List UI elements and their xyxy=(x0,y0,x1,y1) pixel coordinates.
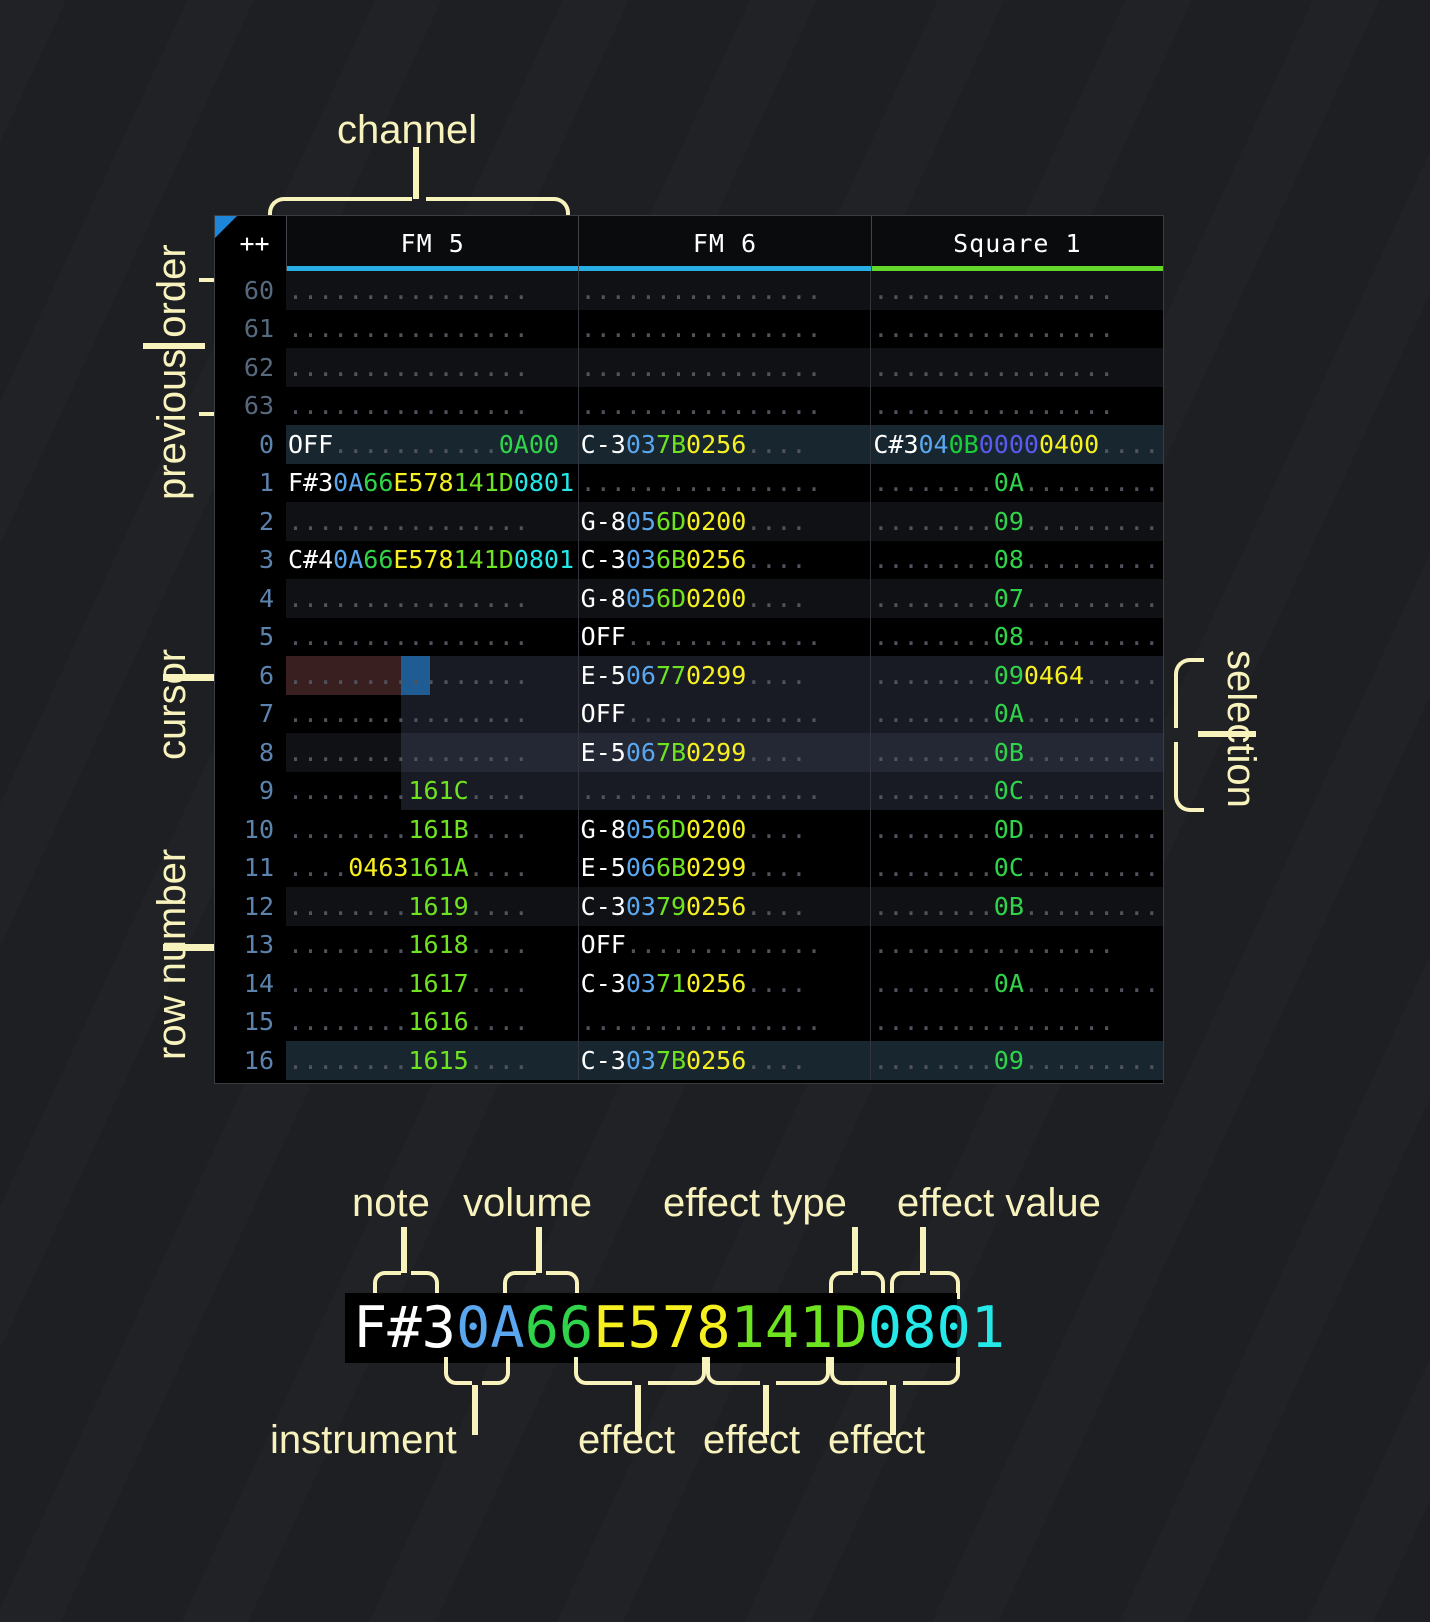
pattern-row[interactable]: 5................OFF....................… xyxy=(215,618,1163,657)
pattern-token: 78 xyxy=(423,545,453,574)
pattern-cell[interactable]: ........09.......... xyxy=(871,1041,1163,1080)
pattern-token: .......... xyxy=(1024,969,1163,998)
pattern-token: ................ xyxy=(581,776,822,805)
pattern-cell-text: ................ xyxy=(286,391,529,420)
pattern-token: .......... xyxy=(1024,507,1163,536)
pattern-cell[interactable]: ........07.......... xyxy=(871,579,1163,618)
pattern-token: 0256 xyxy=(686,969,746,998)
pattern-token: 0463 xyxy=(348,853,408,882)
pattern-token: 0D xyxy=(994,815,1024,844)
pattern-cell[interactable]: OFF............. xyxy=(579,926,872,965)
pattern-token: E-5 xyxy=(581,738,626,767)
pattern-token: ................ xyxy=(581,276,822,305)
pattern-header: ++ FM 5 FM 6 Square 1 xyxy=(215,216,1163,271)
pattern-cell[interactable]: E-5066B0299.... xyxy=(579,849,872,888)
pattern-token: .... xyxy=(469,892,529,921)
pattern-cell[interactable]: ................ xyxy=(579,464,872,503)
detail-token: 01 xyxy=(936,1295,1005,1361)
pattern-token: ........... xyxy=(333,430,499,459)
pattern-token: ................ xyxy=(581,468,822,497)
row-cells: ........................................… xyxy=(286,348,1163,387)
pattern-token: .......... xyxy=(1024,584,1163,613)
pattern-token: ........ xyxy=(873,622,993,651)
row-number: 6 xyxy=(215,661,286,690)
pattern-row[interactable]: 7................OFF....................… xyxy=(215,695,1163,734)
row-cells: ........161C............................… xyxy=(286,772,1163,811)
pattern-cell-text: ................ xyxy=(871,1007,1114,1036)
pattern-cell[interactable]: ................ xyxy=(286,579,579,618)
pattern-cell-text: ....0463161A.... xyxy=(286,853,529,882)
pattern-token: 01 xyxy=(544,468,574,497)
annotation-selection: selection xyxy=(1218,650,1263,808)
pattern-cell[interactable]: ........0B.......... xyxy=(871,887,1163,926)
pattern-cell-text: ........161B.... xyxy=(286,815,529,844)
pattern-cell-text: ........0A.......... xyxy=(871,468,1163,497)
pattern-token: 0256 xyxy=(686,430,746,459)
pattern-token: ................ xyxy=(873,391,1114,420)
pattern-cell-text: C-3037B0256.... xyxy=(579,430,807,459)
pattern-token: 07 xyxy=(994,584,1024,613)
pattern-cell[interactable]: ........08.......... xyxy=(871,618,1163,657)
pattern-token: E-5 xyxy=(581,853,626,882)
pattern-cell[interactable]: ........0A.......... xyxy=(871,695,1163,734)
pattern-cell-text: C-3036B0256.... xyxy=(579,545,807,574)
pattern-cell[interactable]: ................ xyxy=(871,926,1163,965)
pattern-cell-text: ........1615.... xyxy=(286,1046,529,1075)
pattern-cell-text: ........0C.......... xyxy=(871,853,1163,882)
pattern-token: 0B xyxy=(994,892,1024,921)
pattern-cell[interactable]: ........1615.... xyxy=(286,1041,579,1080)
pattern-token: .... xyxy=(746,584,806,613)
pattern-cell[interactable]: ........09.......... xyxy=(871,502,1163,541)
row-cells: ........................................… xyxy=(286,271,1163,310)
row-number: 63 xyxy=(215,391,286,420)
pattern-token: 0299 xyxy=(686,853,746,882)
pattern-cell[interactable]: ................ xyxy=(871,387,1163,426)
pattern-token: .... xyxy=(746,815,806,844)
pattern-cell[interactable]: ................ xyxy=(286,502,579,541)
pattern-token: .... xyxy=(746,1046,806,1075)
pattern-token: ................ xyxy=(288,584,529,613)
detail-token: E5 xyxy=(593,1295,662,1361)
pattern-token: .... xyxy=(746,738,806,767)
pattern-token: E5 xyxy=(393,545,423,574)
pattern-row[interactable]: 61......................................… xyxy=(215,310,1163,349)
pattern-token: 0C xyxy=(994,853,1024,882)
pattern-token: ................ xyxy=(288,314,529,343)
row-cells: F#30A66E578141D0801.....................… xyxy=(286,464,1163,503)
pattern-cell-text: ................ xyxy=(286,507,529,536)
pattern-token: .... xyxy=(746,892,806,921)
pattern-token: .... xyxy=(746,853,806,882)
pattern-token: ........ xyxy=(873,853,993,882)
pattern-row[interactable]: 12........1619....C-303790256...........… xyxy=(215,887,1163,926)
pattern-cell-text: G-8056D0200.... xyxy=(579,507,807,536)
pattern-token: OFF xyxy=(288,430,333,459)
pattern-token: ................ xyxy=(288,276,529,305)
pattern-cell[interactable]: OFF...........0A00 xyxy=(286,425,579,464)
annotation-instrument: instrument xyxy=(270,1418,457,1463)
pattern-token: ................ xyxy=(288,353,529,382)
pattern-token: 08 xyxy=(514,468,544,497)
pattern-token: 6D xyxy=(656,507,686,536)
pattern-token: 6B xyxy=(656,853,686,882)
row-cells: ................OFF.....................… xyxy=(286,618,1163,657)
pattern-cell[interactable]: ........0B.......... xyxy=(871,733,1163,772)
detail-token: 1D xyxy=(799,1295,868,1361)
pattern-cell[interactable]: F#30A66E578141D0801 xyxy=(286,464,579,503)
pattern-token: 0A xyxy=(333,545,363,574)
pattern-cell-text: C#3040B00000400.... xyxy=(871,430,1159,459)
pattern-token: 0256 xyxy=(686,892,746,921)
pattern-cell-text: ................ xyxy=(286,622,529,651)
pattern-cell[interactable]: OFF............. xyxy=(579,618,872,657)
pattern-cell-text: ................ xyxy=(871,314,1114,343)
annotation-row-number: row number xyxy=(150,849,195,1060)
pattern-token: ........ xyxy=(288,1007,408,1036)
pattern-token: 03 xyxy=(626,892,656,921)
annotation-note: note xyxy=(352,1181,430,1226)
pattern-token: 0B xyxy=(949,430,979,459)
pattern-token: ........ xyxy=(873,545,993,574)
pattern-cell[interactable]: E-506770299.... xyxy=(579,656,872,695)
pattern-token: 14 xyxy=(454,468,484,497)
pattern-token: ................ xyxy=(873,276,1114,305)
pattern-token: 09 xyxy=(994,507,1024,536)
pattern-cell[interactable]: ........0A.......... xyxy=(871,464,1163,503)
pattern-token: ............. xyxy=(626,699,822,728)
pattern-cell[interactable]: C-303710256.... xyxy=(579,964,872,1003)
corner-label: ++ xyxy=(231,229,269,258)
pattern-cell[interactable]: ........161C.... xyxy=(286,772,579,811)
pattern-cell-text: ................ xyxy=(579,353,822,382)
detail-token: F#3 xyxy=(353,1295,456,1361)
pattern-row[interactable]: 14........1617....C-303710256...........… xyxy=(215,964,1163,1003)
pattern-token: G-8 xyxy=(581,584,626,613)
row-number: 16 xyxy=(215,1046,286,1075)
pattern-token: 03 xyxy=(626,1046,656,1075)
row-cells: C#40A66E578141D0801C-3036B0256..........… xyxy=(286,541,1163,580)
pattern-row[interactable]: 16........1615....C-3037B0256...........… xyxy=(215,1041,1163,1080)
pattern-token: 6D xyxy=(656,584,686,613)
row-cells: ........1619....C-303790256............0… xyxy=(286,887,1163,926)
pattern-row[interactable]: 13........1618....OFF...................… xyxy=(215,926,1163,965)
pattern-token: ........ xyxy=(873,892,993,921)
pattern-cell[interactable]: C#40A66E578141D0801 xyxy=(286,541,579,580)
brace-channel xyxy=(268,185,570,215)
pattern-token: ........ xyxy=(873,738,993,767)
pattern-row[interactable]: 60......................................… xyxy=(215,271,1163,310)
pattern-cell[interactable]: C-3037B0256.... xyxy=(579,1041,872,1080)
pattern-token: 05 xyxy=(626,507,656,536)
pattern-cell[interactable]: ................ xyxy=(579,387,872,426)
pattern-token: 0200 xyxy=(686,584,746,613)
header-corner[interactable]: ++ xyxy=(215,216,287,271)
pattern-token: 09 xyxy=(994,1046,1024,1075)
pattern-cell[interactable]: ................ xyxy=(579,1003,872,1042)
pattern-cell[interactable]: ................ xyxy=(286,387,579,426)
pattern-token: 0A xyxy=(994,969,1024,998)
pattern-cell[interactable]: ................ xyxy=(579,772,872,811)
pattern-row[interactable]: 8................E-5067B0299............… xyxy=(215,733,1163,772)
pattern-token: 66 xyxy=(363,545,393,574)
pattern-cell-text: ................ xyxy=(579,314,822,343)
pattern-cell[interactable]: ................ xyxy=(579,348,872,387)
pattern-token: 05 xyxy=(626,584,656,613)
row-cells: ........................................… xyxy=(286,387,1163,426)
annotation-channel: channel xyxy=(337,108,477,153)
row-number: 8 xyxy=(215,738,286,767)
pattern-grid[interactable]: 60......................................… xyxy=(215,271,1163,1083)
brace-selection xyxy=(1174,658,1210,814)
pattern-cell[interactable]: ........0C.......... xyxy=(871,772,1163,811)
detail-token: 0A xyxy=(456,1295,525,1361)
row-cells: ................E-5067B0299............0… xyxy=(286,733,1163,772)
pattern-token: 1619 xyxy=(408,892,468,921)
pattern-cell[interactable]: ................ xyxy=(286,618,579,657)
pattern-row[interactable]: 2................G-8056D0200............… xyxy=(215,502,1163,541)
pattern-token: ................ xyxy=(873,314,1114,343)
channel-header-fm6[interactable]: FM 6 xyxy=(579,216,871,271)
row-cells: OFF...........0A00C-3037B0256....C#3040B… xyxy=(286,425,1163,464)
pattern-cell-text: OFF...........0A00 xyxy=(286,430,559,459)
pattern-token: C-3 xyxy=(581,430,626,459)
brace-effect-value xyxy=(890,1257,956,1291)
pattern-token: ................ xyxy=(581,1007,822,1036)
pattern-token: ................ xyxy=(873,930,1114,959)
pattern-cell-text: ................ xyxy=(579,468,822,497)
pattern-cell[interactable]: G-8056D0200.... xyxy=(579,579,872,618)
pattern-token: 06 xyxy=(626,853,656,882)
annotation-effect-1: effect xyxy=(578,1418,675,1463)
pattern-token: 0000 xyxy=(979,430,1039,459)
pattern-cell-text: C#40A66E578141D0801 xyxy=(286,545,574,574)
pattern-cell[interactable]: ................ xyxy=(286,695,579,734)
pattern-token: 03 xyxy=(626,430,656,459)
pattern-token: 1616 xyxy=(408,1007,468,1036)
pattern-token: 0299 xyxy=(686,661,746,690)
pattern-row[interactable]: 10........161B....G-8056D0200...........… xyxy=(215,810,1163,849)
pattern-cell[interactable]: G-8056D0200.... xyxy=(579,810,872,849)
pattern-cell[interactable]: E-5067B0299.... xyxy=(579,733,872,772)
pattern-cell[interactable]: ................ xyxy=(579,310,872,349)
pattern-cell[interactable]: ........1617.... xyxy=(286,964,579,1003)
brace-volume xyxy=(503,1257,575,1291)
pattern-editor[interactable]: ++ FM 5 FM 6 Square 1 60................… xyxy=(215,216,1163,1083)
pattern-token: ........ xyxy=(288,776,408,805)
pattern-row[interactable]: 11....0463161A....E-5066B0299...........… xyxy=(215,849,1163,888)
pattern-token: 0A00 xyxy=(499,430,559,459)
pattern-cell[interactable]: ........0A.......... xyxy=(871,964,1163,1003)
pattern-token: 05 xyxy=(626,815,656,844)
pattern-token: G-8 xyxy=(581,507,626,536)
annotation-effect-type: effect type xyxy=(663,1181,847,1226)
pattern-token: ........ xyxy=(873,969,993,998)
pattern-cell-text: G-8056D0200.... xyxy=(579,584,807,613)
row-number: 14 xyxy=(215,969,286,998)
pattern-token: 06 xyxy=(626,661,656,690)
pattern-token: 08 xyxy=(994,545,1024,574)
pattern-cell-text: ................ xyxy=(286,276,529,305)
pattern-token: ................ xyxy=(288,738,529,767)
pattern-cell-text: OFF............. xyxy=(579,699,822,728)
row-cells: ........1616............................… xyxy=(286,1003,1163,1042)
brace-effect-type xyxy=(829,1257,881,1291)
pattern-token: .... xyxy=(469,1046,529,1075)
pattern-token: 6D xyxy=(656,815,686,844)
pattern-row[interactable]: 4................G-8056D0200............… xyxy=(215,579,1163,618)
pattern-cell[interactable]: C-3036B0256.... xyxy=(579,541,872,580)
pattern-cell-text: C-3037B0256.... xyxy=(579,1046,807,1075)
pattern-token: ........ xyxy=(873,584,993,613)
row-cells: ........1615....C-3037B0256............0… xyxy=(286,1041,1163,1080)
pattern-token: 0C xyxy=(994,776,1024,805)
detail-token: 08 xyxy=(868,1295,937,1361)
row-cells: ................G-8056D0200............0… xyxy=(286,502,1163,541)
channel-header-label: FM 5 xyxy=(401,229,465,258)
pattern-cell-text: ................ xyxy=(286,699,529,728)
pattern-cell[interactable]: ....0463161A.... xyxy=(286,849,579,888)
pattern-cell[interactable]: ................ xyxy=(286,733,579,772)
pattern-token: 78 xyxy=(423,468,453,497)
row-number: 11 xyxy=(215,853,286,882)
pattern-token: ........ xyxy=(873,468,993,497)
pattern-token: 161A xyxy=(408,853,468,882)
brace-effect-3 xyxy=(830,1365,956,1399)
pattern-token: ...... xyxy=(1084,661,1163,690)
pattern-cell-text: ........08.......... xyxy=(871,545,1163,574)
brace-effect-1 xyxy=(574,1365,702,1399)
channel-header-label: Square 1 xyxy=(953,229,1081,258)
pattern-token: ........ xyxy=(288,969,408,998)
pattern-token: 09 xyxy=(994,661,1024,690)
pattern-token: ................ xyxy=(581,314,822,343)
detail-token: 78 xyxy=(662,1295,731,1361)
pattern-token: 03 xyxy=(626,969,656,998)
pattern-token: ............. xyxy=(626,930,822,959)
row-cells: ................G-8056D0200............0… xyxy=(286,579,1163,618)
pattern-token: G-8 xyxy=(581,815,626,844)
pattern-cell[interactable]: ................ xyxy=(871,310,1163,349)
row-cells: ........................................… xyxy=(286,310,1163,349)
pattern-token: ................ xyxy=(288,661,529,690)
pattern-token: 161C xyxy=(408,776,468,805)
pattern-token: 66 xyxy=(363,468,393,497)
pattern-token: 0A xyxy=(994,699,1024,728)
pattern-token: .... xyxy=(469,853,529,882)
pattern-row[interactable]: 6................E-506770299............… xyxy=(215,656,1163,695)
row-number: 15 xyxy=(215,1007,286,1036)
row-cells: ........1618....OFF.....................… xyxy=(286,926,1163,965)
pattern-token: C#4 xyxy=(288,545,333,574)
pattern-token: 1617 xyxy=(408,969,468,998)
pattern-cell[interactable]: G-8056D0200.... xyxy=(579,502,872,541)
pattern-cell[interactable]: ................ xyxy=(871,1003,1163,1042)
pattern-token: 0464 xyxy=(1024,661,1084,690)
row-number: 1 xyxy=(215,468,286,497)
pattern-cell[interactable]: ................ xyxy=(286,656,579,695)
pattern-token: 0200 xyxy=(686,507,746,536)
pattern-token: 08 xyxy=(994,622,1024,651)
pattern-token: 77 xyxy=(656,661,686,690)
pattern-cell[interactable]: ........0C.......... xyxy=(871,849,1163,888)
pattern-cell-text: ........07.......... xyxy=(871,584,1163,613)
annotation-effect-3: effect xyxy=(828,1418,925,1463)
pattern-cell[interactable]: ........08.......... xyxy=(871,541,1163,580)
channel-header-square1[interactable]: Square 1 xyxy=(872,216,1163,271)
pattern-cell[interactable]: ........1619.... xyxy=(286,887,579,926)
pattern-cell[interactable]: ................ xyxy=(871,348,1163,387)
row-number: 60 xyxy=(215,276,286,305)
channel-header-label: FM 6 xyxy=(693,229,757,258)
pattern-cell[interactable]: C-303790256.... xyxy=(579,887,872,926)
pattern-cell-text: E-5067B0299.... xyxy=(579,738,807,767)
pattern-cell[interactable]: ........0D.......... xyxy=(871,810,1163,849)
pattern-cell[interactable]: ................ xyxy=(871,271,1163,310)
pattern-token: ........ xyxy=(288,815,408,844)
pattern-token: 7B xyxy=(656,1046,686,1075)
pattern-token: E-5 xyxy=(581,661,626,690)
annotation-effect-value: effect value xyxy=(897,1181,1101,1226)
pattern-row[interactable]: 1F#30A66E578141D0801....................… xyxy=(215,464,1163,503)
detail-token: 14 xyxy=(731,1295,800,1361)
detail-token: 66 xyxy=(525,1295,594,1361)
channel-header-fm5[interactable]: FM 5 xyxy=(287,216,579,271)
pattern-cell[interactable]: ........1618.... xyxy=(286,926,579,965)
pattern-cell[interactable]: ........1616.... xyxy=(286,1003,579,1042)
pattern-cell-text: ........09.......... xyxy=(871,507,1163,536)
pattern-token: 1615 xyxy=(408,1046,468,1075)
pattern-row[interactable]: 62......................................… xyxy=(215,348,1163,387)
pattern-token: 7B xyxy=(656,738,686,767)
pattern-cell-text: OFF............. xyxy=(579,622,822,651)
pattern-cell[interactable]: C-3037B0256.... xyxy=(579,425,872,464)
row-cells: ........1617....C-303710256............0… xyxy=(286,964,1163,1003)
pattern-row[interactable]: 3C#40A66E578141D0801C-3036B0256.........… xyxy=(215,541,1163,580)
pattern-token: .......... xyxy=(1024,622,1163,651)
pattern-row[interactable]: 63......................................… xyxy=(215,387,1163,426)
pattern-cell[interactable]: ................ xyxy=(579,271,872,310)
pattern-token: .... xyxy=(469,969,529,998)
pattern-row[interactable]: 15........1616..........................… xyxy=(215,1003,1163,1042)
annotation-volume: volume xyxy=(463,1181,592,1226)
pattern-cell-text: ................ xyxy=(871,276,1114,305)
pattern-cell-text: ................ xyxy=(871,353,1114,382)
pattern-cell[interactable]: ................ xyxy=(286,348,579,387)
pattern-cell[interactable]: ........090464...... xyxy=(871,656,1163,695)
pattern-token: ................ xyxy=(288,391,529,420)
row-cells: ........161B....G-8056D0200............0… xyxy=(286,810,1163,849)
pattern-cell-text: ........1616.... xyxy=(286,1007,529,1036)
pattern-token: .... xyxy=(469,1007,529,1036)
row-number: 3 xyxy=(215,545,286,574)
pattern-cell-text: ........161C.... xyxy=(286,776,529,805)
pattern-row[interactable]: 9........161C...........................… xyxy=(215,772,1163,811)
pattern-token: .... xyxy=(469,815,529,844)
pattern-token: E5 xyxy=(393,468,423,497)
pattern-token: .... xyxy=(1099,430,1159,459)
pattern-cell[interactable]: ................ xyxy=(286,310,579,349)
pattern-cell[interactable]: OFF............. xyxy=(579,695,872,734)
pattern-token: 0256 xyxy=(686,1046,746,1075)
pattern-cell[interactable]: ................ xyxy=(286,271,579,310)
pattern-token: 03 xyxy=(626,545,656,574)
pattern-row[interactable]: 0OFF...........0A00C-3037B0256....C#3040… xyxy=(215,425,1163,464)
pattern-cell[interactable]: C#3040B00000400.... xyxy=(871,425,1163,464)
pattern-cell[interactable]: ........161B.... xyxy=(286,810,579,849)
pattern-cell-detail: F#30A66E578141D0801 xyxy=(345,1293,957,1363)
brace-instrument xyxy=(444,1365,506,1399)
